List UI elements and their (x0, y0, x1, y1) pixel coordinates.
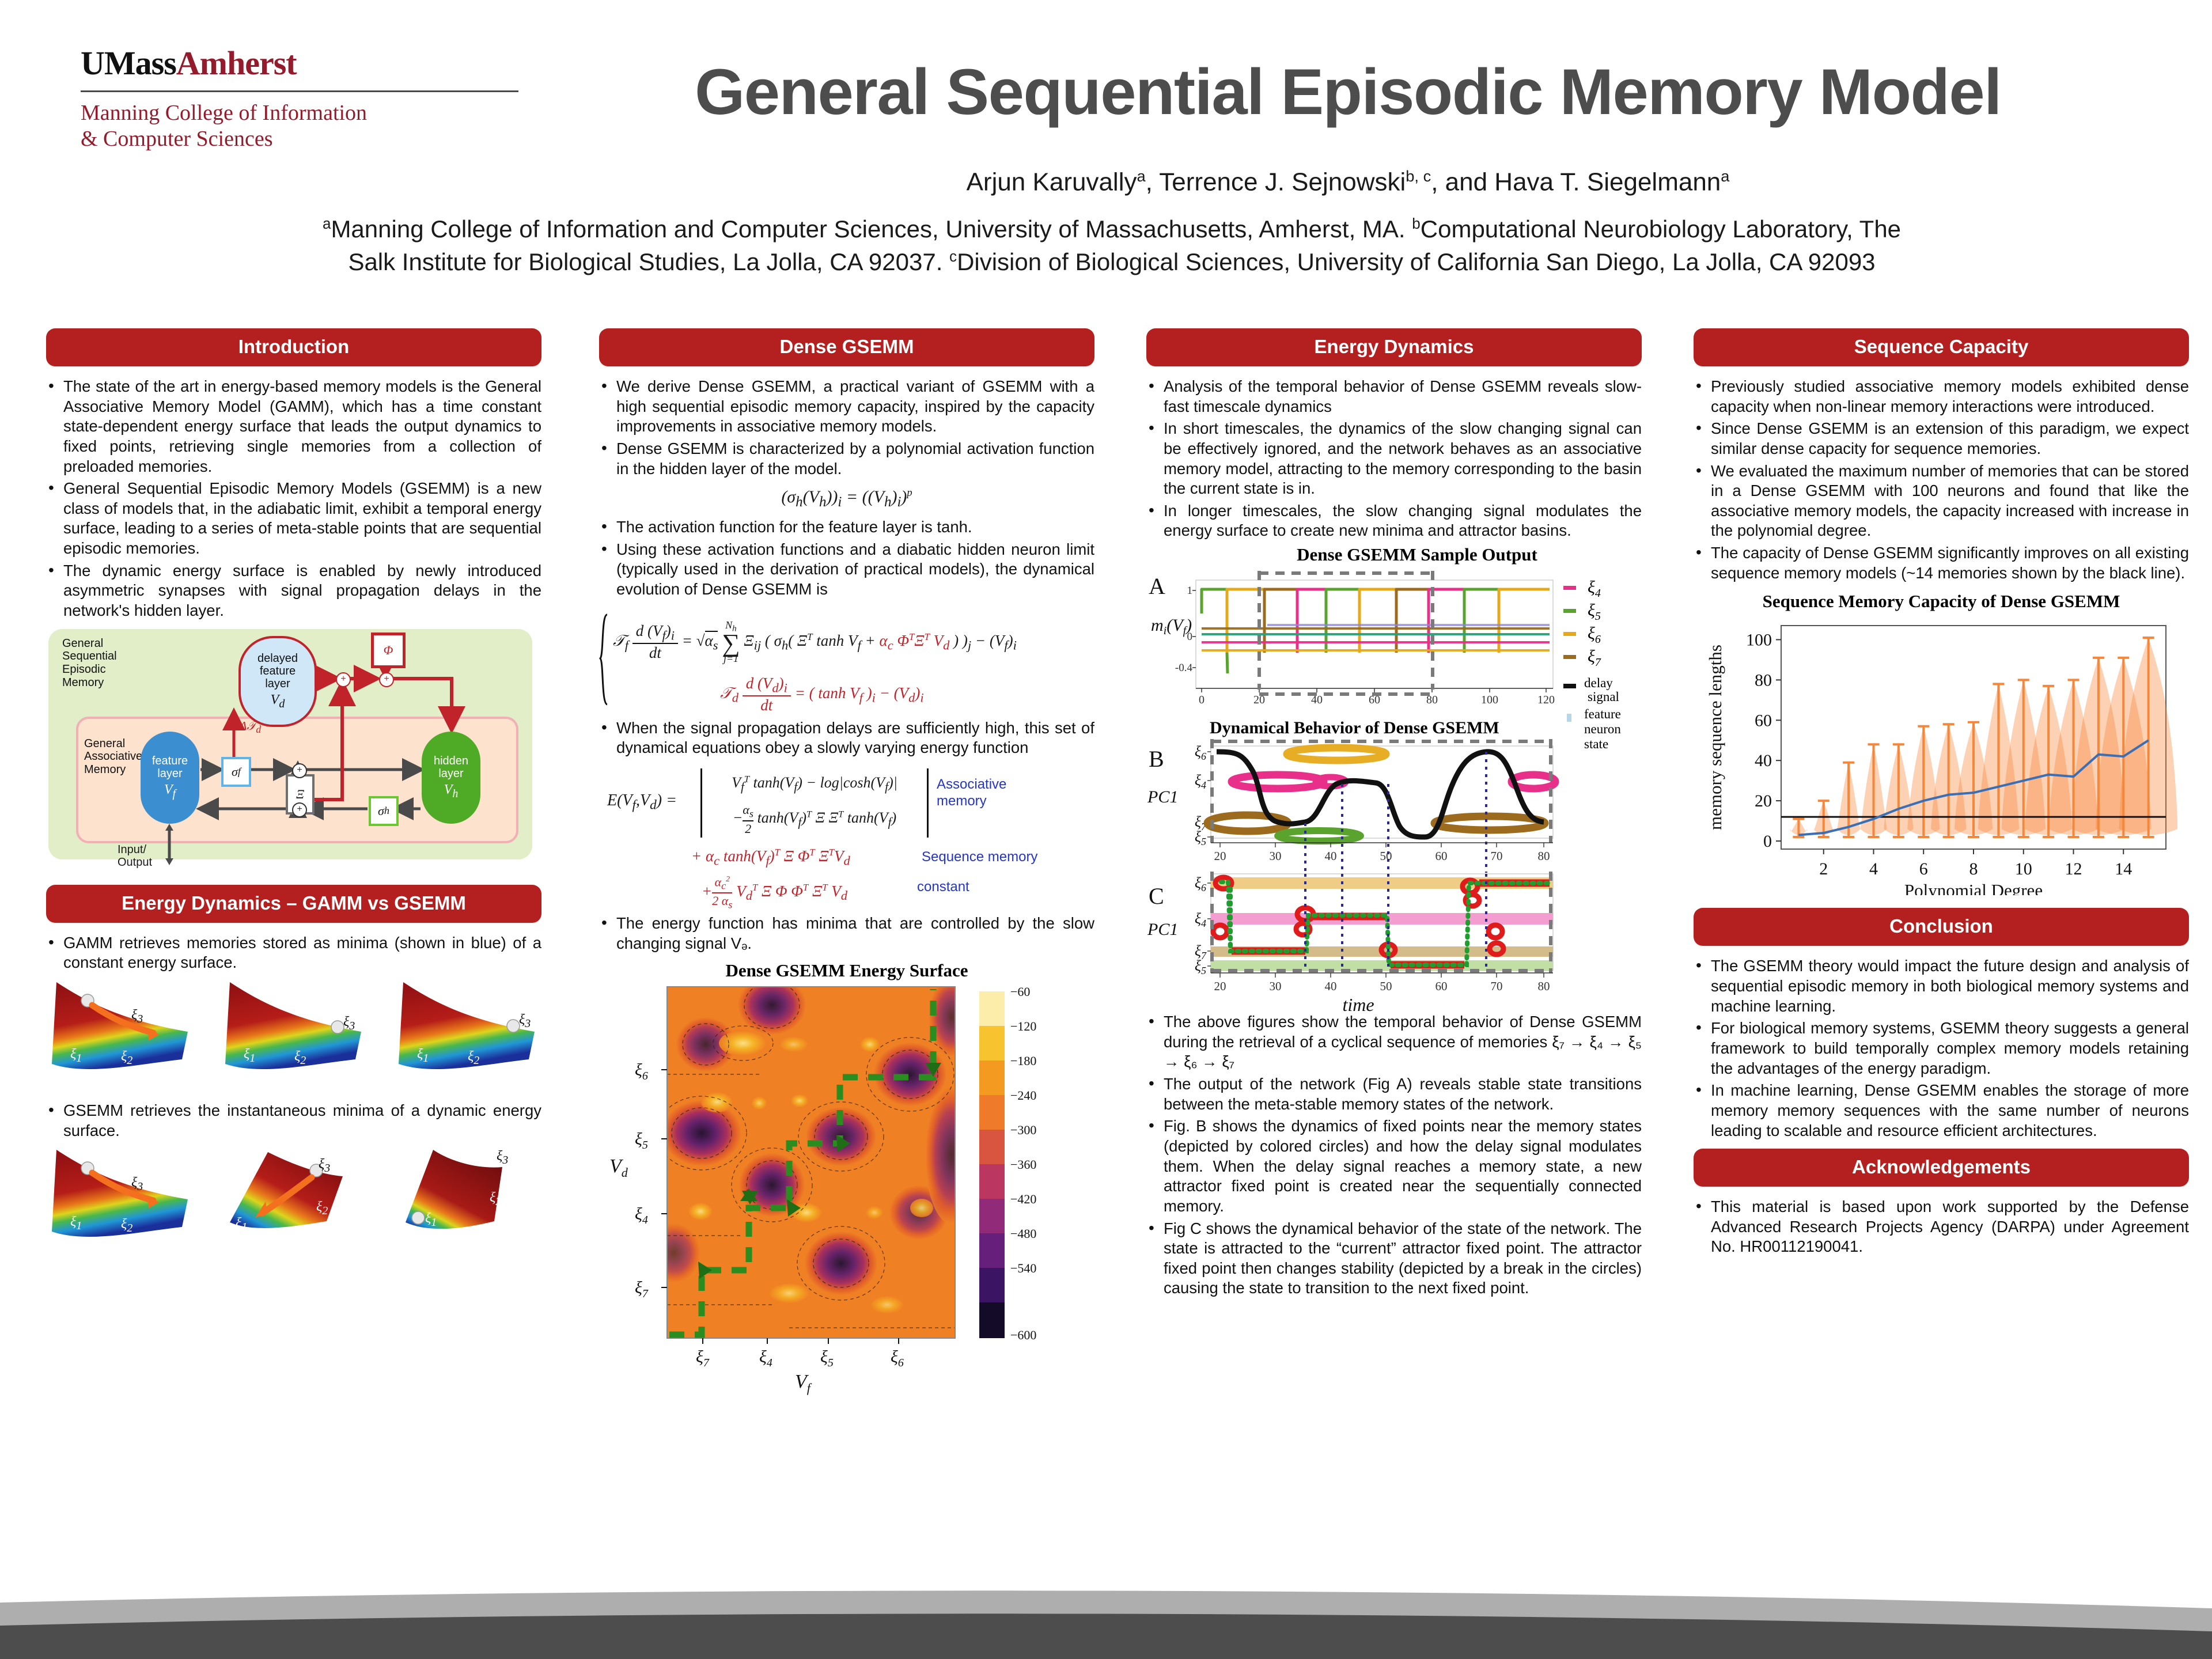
surface-label-xi2: ξ2 (490, 1190, 501, 1209)
list-item: Using these activation functions and a d… (599, 540, 1094, 600)
list-item: The capacity of Dense GSEMM significantl… (1694, 543, 2189, 583)
surface-label-xi1: ξ1 (70, 1047, 82, 1065)
equation-dynamical-evolution: 𝒯f d (Vf)i dt = √αs Nh ∑ j=1 Ξij ( σh( Ξ… (599, 605, 1094, 715)
svg-text:−240: −240 (1010, 1088, 1036, 1103)
svg-text:1: 1 (1187, 585, 1193, 597)
label-associative-l1: Associative (937, 777, 1006, 792)
dense-gsemm-bullets-top: We derive Dense GSEMM, a practical varia… (599, 377, 1094, 479)
svg-text:−300: −300 (1010, 1123, 1036, 1137)
svg-text:80: 80 (1538, 979, 1550, 993)
umass-logo: UMassAmherst Manning College of Informat… (81, 46, 530, 152)
surface-label-xi1: ξ1 (236, 1215, 247, 1234)
legend-swatch-xi6 (1563, 632, 1576, 636)
xtick-xi5: ξ5 (820, 1347, 834, 1369)
svg-text:2: 2 (1819, 859, 1828, 878)
figure-title-sample-output: Dense GSEMM Sample Output (1169, 544, 1665, 565)
list-item: We evaluated the maximum number of memor… (1694, 461, 2189, 541)
section-header-energy-compare: Energy Dynamics – GAMM vs GSEMM (46, 885, 541, 923)
node-delay-label3: layer (265, 677, 290, 690)
xtick-xi4: ξ4 (759, 1347, 772, 1369)
svg-text:50: 50 (1380, 979, 1392, 993)
adder-delay-phi: + (379, 672, 394, 687)
list-item: The state of the art in energy-based mem… (46, 377, 541, 476)
list-item: The dynamic energy surface is enabled by… (46, 561, 541, 621)
label-associative-memory: Associative memory (937, 777, 1006, 810)
list-item: The output of the network (Fig A) reveal… (1146, 1074, 1642, 1114)
node-hidden-label2: layer (438, 767, 463, 780)
sigma-f-box: σf (221, 757, 251, 787)
poster-header: UMassAmherst Manning College of Informat… (0, 0, 2212, 311)
svg-text:4: 4 (1869, 859, 1878, 878)
equation-sequence-term: + αc tanh(Vf)T Ξ ΦT ΞTVd (691, 847, 850, 868)
node-hidden-label1: hidden (434, 755, 468, 767)
svg-text:−600: −600 (1010, 1328, 1036, 1342)
node-delayed-feature-layer: delayed feature layer Vd (238, 636, 317, 727)
legend-swatch-delay-signal (1563, 684, 1576, 688)
equation-matrix-bracket: VfT tanh(Vf) − log|cosh(Vf)| −αs2 tanh(V… (700, 768, 929, 838)
svg-text:50: 50 (1380, 849, 1392, 863)
legend-swatch-feature-state (1567, 714, 1571, 722)
list-item: Previously studied associative memory mo… (1694, 377, 2189, 416)
gamm-surface-2: ξ3 ξ1 ξ2 (219, 979, 368, 1094)
adder-delay-xi: + (336, 672, 351, 687)
axis-label-vf: Vf (795, 1371, 812, 1395)
surface-label-xi3: ξ3 (497, 1149, 508, 1167)
list-item: The GSEMM theory would impact the future… (1694, 956, 2189, 1016)
axis-label-polynomial-degree: Polynomial Degree (1904, 880, 2043, 895)
list-item: We derive Dense GSEMM, a practical varia… (599, 377, 1094, 437)
surface-label-xi1: ξ1 (425, 1211, 437, 1229)
svg-text:60: 60 (1435, 849, 1448, 863)
equation-constant-term: +αc22 αs VdT Ξ Φ ΦT ΞT Vd (702, 874, 847, 911)
equation-assoc-line1: VfT tanh(Vf) − log|cosh(Vf)| (702, 774, 927, 794)
list-item: In machine learning, Dense GSEMM enables… (1694, 1081, 2189, 1141)
equation-vf-line: 𝒯f d (Vf)i dt = √αs Nh ∑ j=1 Ξij ( σh( Ξ… (613, 619, 1017, 665)
surface-label-xi1: ξ1 (244, 1047, 255, 1065)
svg-text:40: 40 (1325, 849, 1337, 863)
svg-text:8: 8 (1969, 859, 1978, 878)
phi-matrix-box: Φ (371, 632, 406, 668)
xtick-xi7: ξ7 (696, 1347, 710, 1369)
svg-text:20: 20 (1214, 979, 1226, 993)
equation-vd-line: 𝒯d d (Vd)i dt = ( tanh Vf )i − (Vd)i (720, 675, 924, 714)
ytick-xi5: ξ5 (635, 1130, 648, 1152)
author-list: Arjun Karuvallya, Terrence J. Sejnowskib… (518, 167, 2177, 197)
list-item: Analysis of the temporal behavior of Den… (1146, 377, 1642, 416)
svg-text:30: 30 (1270, 979, 1282, 993)
svg-text:60: 60 (1755, 711, 1772, 730)
gsemm-surface-row: ξ3 ξ1 ξ2 ξ3 ξ1 ξ2 (46, 1146, 541, 1262)
legend-label-delay-signal-l2: signal (1588, 690, 1619, 704)
svg-text:0: 0 (1187, 631, 1193, 643)
svg-text:20: 20 (1214, 849, 1226, 863)
node-delay-symbol: Vd (271, 692, 285, 710)
svg-text:12: 12 (2065, 859, 2082, 878)
svg-text:−60: −60 (1010, 984, 1030, 999)
svg-text:60: 60 (1435, 979, 1448, 993)
page-title: General Sequential Episodic Memory Model (518, 55, 2177, 129)
figure-energy-surface: ξ6 ξ5 ξ4 ξ7 Vd ξ7 ξ4 ξ5 ξ6 Vf (599, 982, 1083, 1420)
affiliation-text: aManning College of Information and Comp… (98, 213, 2126, 278)
svg-text:14: 14 (2115, 859, 2132, 878)
surface-label-xi3: ξ3 (131, 1007, 143, 1026)
gsemm-surface-2: ξ3 ξ1 ξ2 (219, 1146, 368, 1262)
figure-sequence-capacity: 0204060801002468101214Polynomial Degreem… (1694, 613, 2177, 901)
surface-label-xi1: ξ1 (70, 1214, 82, 1233)
equation-assoc-line2: −αs2 tanh(Vf)T Ξ ΞT tanh(Vf) (702, 802, 927, 836)
conclusion-bullets: The GSEMM theory would impact the future… (1694, 956, 2189, 1141)
svg-text:70: 70 (1491, 849, 1503, 863)
sigma-h-box: σh (369, 796, 399, 826)
logo-amherst-text: Amherst (176, 44, 297, 82)
delay-time-constant-label: Δ𝒯d (240, 719, 261, 736)
panel-label-a: A (1149, 573, 1165, 599)
svg-text:30: 30 (1270, 849, 1282, 863)
surface-label-xi1: ξ1 (417, 1047, 429, 1065)
svg-text:−420: −420 (1010, 1192, 1036, 1206)
node-delay-label2: feature (260, 665, 296, 677)
list-item: The above figures show the temporal beha… (1146, 1012, 1642, 1072)
surface-label-xi2: ξ2 (121, 1049, 132, 1067)
io-label-line1: Input/ (118, 843, 146, 856)
svg-text:20: 20 (1755, 792, 1772, 811)
label-sequence-memory: Sequence memory (922, 849, 1037, 865)
legend-label-feature-l1: feature (1584, 707, 1621, 721)
gamm-surface-row: ξ3 ξ1 ξ2 ξ3 ξ1 ξ2 ξ3 ξ1 ξ2 (46, 979, 541, 1094)
ytick-b-xi4: ξ4 (1195, 772, 1206, 791)
svg-text:80: 80 (1538, 849, 1550, 863)
energy-colorbar: −60−120 −180−240 −300−360 −420−480 −540−… (979, 984, 1036, 1342)
section-header-energy-dynamics: Energy Dynamics (1146, 328, 1642, 366)
list-item: For biological memory systems, GSEMM the… (1694, 1018, 2189, 1078)
node-feature-symbol: Vf (164, 782, 176, 800)
gsemm-surface-3: ξ3 ξ1 ξ2 (393, 1146, 541, 1262)
ytick-xi4: ξ4 (635, 1205, 648, 1226)
list-item: GAMM retrieves memories stored as minima… (46, 933, 541, 973)
surface-label-xi2: ξ2 (316, 1199, 328, 1218)
logo-umass-text: UMass (81, 44, 176, 82)
svg-text:0: 0 (1199, 694, 1205, 706)
axis-label-memory-sequence-lengths: memory sequence lengths (1705, 645, 1725, 830)
ytick-xi7: ξ7 (635, 1278, 649, 1300)
section-header-conclusion: Conclusion (1694, 908, 2189, 946)
list-item: Fig C shows the dynamical behavior of th… (1146, 1219, 1642, 1299)
ytick-c-xi4: ξ4 (1195, 910, 1206, 929)
logo-divider (81, 90, 518, 92)
list-item: This material is based upon work support… (1694, 1197, 2189, 1257)
list-item: Fig. B shows the dynamics of fixed point… (1146, 1116, 1642, 1216)
surface-label-xi2: ξ2 (294, 1049, 306, 1067)
svg-text:40: 40 (1755, 752, 1772, 771)
svg-text:70: 70 (1491, 979, 1503, 993)
svg-text:−120: −120 (1010, 1019, 1036, 1033)
surface-label-xi2: ξ2 (121, 1217, 132, 1235)
svg-text:0: 0 (1763, 832, 1772, 851)
figure-dynamics-panels: Dense GSEMM Sample Output A mi(Vf) 10-0.… (1146, 544, 1665, 1011)
energy-dynamics-bullets-bottom: The above figures show the temporal beha… (1146, 1012, 1642, 1298)
list-item: Since Dense GSEMM is an extension of thi… (1694, 419, 2189, 459)
svg-text:10: 10 (2015, 859, 2032, 878)
legend-swatch-xi7 (1563, 655, 1576, 659)
legend-swatch-xi5 (1563, 609, 1576, 613)
sequence-capacity-bullets: Previously studied associative memory mo… (1694, 377, 2189, 583)
column-energy-dynamics: Energy Dynamics Analysis of the temporal… (1146, 328, 1642, 1301)
column-sequence-capacity: Sequence Capacity Previously studied ass… (1694, 328, 2189, 1259)
node-hidden-symbol: Vh (444, 782, 459, 800)
equation-activation-function: (σh(Vh))i = ((Vh)i)p (599, 487, 1094, 510)
legend-label-delay-signal-l1: delay (1584, 676, 1613, 690)
logo-wordmark: UMassAmherst (81, 46, 530, 81)
label-constant: constant (917, 879, 969, 895)
dense-gsemm-bullets-mid: The activation function for the feature … (599, 517, 1094, 600)
gamm-surface-1: ξ3 ξ1 ξ2 (46, 979, 195, 1094)
gsemm-surface-1: ξ3 ξ1 ξ2 (46, 1146, 195, 1262)
sample-output-legend: ξ4 ξ5 ξ6 ξ7 delay signal feature neuron … (1563, 578, 1621, 751)
svg-text:−180: −180 (1010, 1054, 1036, 1068)
list-item: Dense GSEMM is characterized by a polyno… (599, 439, 1094, 479)
surface-label-xi3: ξ3 (343, 1014, 355, 1033)
label-associative-l2: memory (937, 793, 987, 809)
svg-text:-0.4: -0.4 (1175, 662, 1193, 674)
axis-label-pc1-c: PC1 (1147, 920, 1178, 939)
node-delay-label1: delayed (257, 652, 298, 665)
figure-title-energy-surface: Dense GSEMM Energy Surface (599, 960, 1094, 981)
panel-label-c: C (1149, 883, 1164, 909)
figure-title-dynamical-behavior: Dynamical Behavior of Dense GSEMM (1210, 718, 1499, 737)
surface-label-xi3: ξ3 (131, 1175, 143, 1194)
svg-text:−360: −360 (1010, 1157, 1036, 1172)
list-item: In longer timescales, the slow changing … (1146, 501, 1642, 541)
legend-label-xi4: ξ4 (1588, 578, 1601, 600)
equation-energy-function: E(Vf,Vd) = VfT tanh(Vf) − log|cosh(Vf)| … (599, 762, 1094, 911)
ytick-c-xi6: ξ6 (1195, 874, 1206, 893)
list-item: In short timescales, the dynamics of the… (1146, 419, 1642, 499)
legend-label-xi5: ξ5 (1588, 601, 1601, 623)
column-introduction: Introduction The state of the art in ene… (46, 328, 541, 1264)
surface-label-xi2: ξ2 (468, 1049, 479, 1067)
axis-label-pc1-b: PC1 (1147, 787, 1178, 806)
introduction-bullets: The state of the art in energy-based mem… (46, 377, 541, 621)
dense-gsemm-bullets-after-eq: When the signal propagation delays are s… (599, 718, 1094, 758)
adder-feature-to-hidden: + (292, 763, 307, 778)
section-header-introduction: Introduction (46, 328, 541, 366)
ytick-b-xi6: ξ6 (1195, 743, 1206, 762)
section-header-sequence-capacity: Sequence Capacity (1694, 328, 2189, 366)
panel-label-b: B (1149, 746, 1164, 772)
list-item: General Sequential Episodic Memory Model… (46, 479, 541, 559)
column-dense-gsemm: Dense GSEMM We derive Dense GSEMM, a pra… (599, 328, 1094, 1420)
gsemm-block-diagram: GeneralSequentialEpisodicMemory GeneralA… (48, 629, 532, 877)
section-header-dense-gsemm: Dense GSEMM (599, 328, 1094, 366)
legend-swatch-xi4 (1563, 586, 1576, 590)
legend-label-feature-l3: state (1584, 737, 1608, 751)
axis-label-mi-vf: mi(Vf) (1151, 616, 1192, 637)
ytick-xi6: ξ6 (635, 1060, 648, 1082)
list-item: The activation function for the feature … (599, 517, 1094, 537)
adder-hidden-to-feature: + (292, 802, 307, 817)
acknowledgements-bullets: This material is based upon work support… (1694, 1197, 2189, 1257)
node-feature-label2: layer (157, 767, 182, 780)
axis-label-vd: Vd (609, 1156, 628, 1180)
node-hidden-layer: hidden layer Vh (422, 732, 480, 824)
list-item: GSEMM retrieves the instantaneous minima… (46, 1101, 541, 1141)
svg-text:120: 120 (1537, 694, 1555, 706)
svg-text:80: 80 (1755, 671, 1772, 690)
logo-college-line1: Manning College of Information (81, 100, 530, 126)
surface-label-xi3: ξ3 (319, 1157, 330, 1175)
svg-text:100: 100 (1481, 694, 1498, 706)
energy-dynamics-bullets: Analysis of the temporal behavior of Den… (1146, 377, 1642, 541)
energy-compare-bullets-bottom: GSEMM retrieves the instantaneous minima… (46, 1101, 541, 1141)
dense-gsemm-bullets-end: The energy function has minima that are … (599, 914, 1094, 953)
input-output-label: Input/ Output (118, 843, 152, 869)
node-feature-layer: feature layer Vf (141, 732, 199, 824)
legend-label-feature-l2: neuron (1584, 722, 1621, 736)
svg-text:−540: −540 (1010, 1261, 1036, 1275)
svg-text:−480: −480 (1010, 1226, 1036, 1241)
energy-compare-bullets-top: GAMM retrieves memories stored as minima… (46, 933, 541, 973)
section-header-acknowledgements: Acknowledgements (1694, 1149, 2189, 1187)
node-feature-label1: feature (152, 755, 188, 767)
list-item: The energy function has minima that are … (599, 914, 1094, 953)
svg-text:40: 40 (1325, 979, 1337, 993)
logo-college-line2: & Computer Sciences (81, 126, 530, 152)
legend-label-xi6: ξ6 (1588, 624, 1601, 646)
equation-energy-lhs: E(Vf,Vd) = (607, 791, 677, 813)
footer-decoration (0, 1573, 2212, 1659)
list-item: When the signal propagation delays are s… (599, 718, 1094, 758)
io-label-line2: Output (118, 856, 152, 869)
gamm-surface-3: ξ3 ξ1 ξ2 (393, 979, 541, 1094)
figure-title-capacity: Sequence Memory Capacity of Dense GSEMM (1694, 591, 2189, 612)
legend-label-xi7: ξ7 (1588, 647, 1601, 669)
svg-text:100: 100 (1746, 631, 1772, 650)
svg-text:6: 6 (1919, 859, 1928, 878)
surface-label-xi3: ξ3 (519, 1012, 531, 1031)
xtick-xi6: ξ6 (891, 1347, 904, 1369)
